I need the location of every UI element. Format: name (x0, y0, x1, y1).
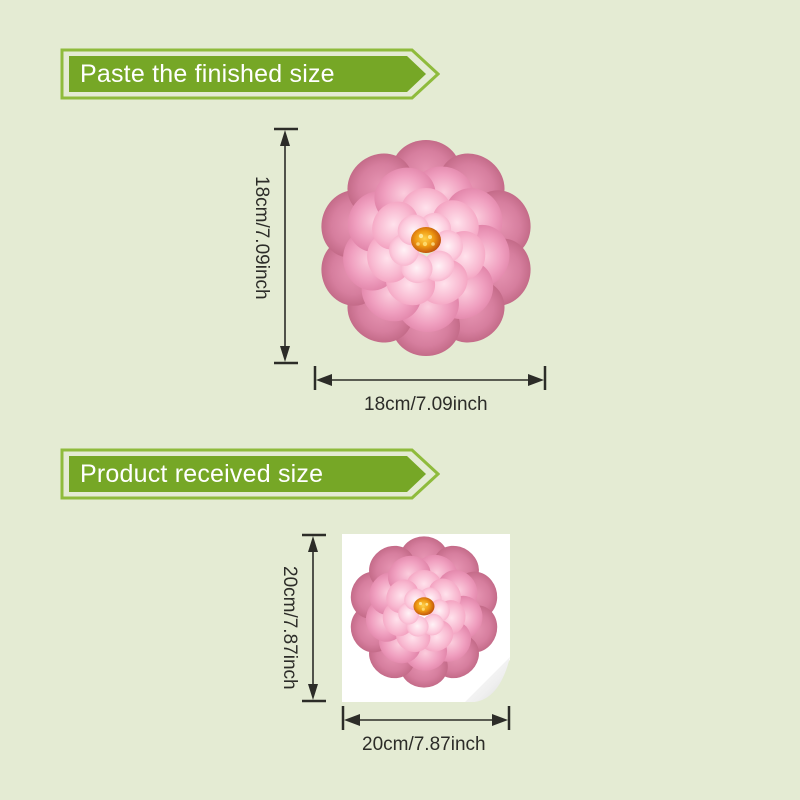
dimension-arrow-vertical (300, 532, 326, 704)
dimension-line-horizontal-finished (312, 366, 548, 392)
dimension-line-vertical-received (300, 532, 326, 704)
dimension-arrow-horizontal (312, 366, 548, 392)
dimension-line-vertical-finished (272, 126, 298, 366)
banner-label: Product received size (80, 448, 323, 500)
flower-image-finished-size (308, 128, 544, 364)
camellia-flower-graphic (308, 128, 544, 364)
dimension-line-horizontal-received (340, 706, 512, 732)
dimension-label-height-received: 20cm/7.87inch (278, 566, 300, 690)
banner-paste-finished-size: Paste the finished size (60, 48, 440, 100)
dimension-label-width-received: 20cm/7.87inch (362, 734, 486, 756)
sticker-sheet-image-received-size (342, 534, 510, 702)
infographic-canvas: Paste the finished size (0, 0, 800, 800)
dimension-label-width-finished: 18cm/7.09inch (364, 394, 488, 416)
banner-label: Paste the finished size (80, 48, 335, 100)
sticker-flower-center-stamen (414, 597, 435, 615)
dimension-arrow-vertical (272, 126, 298, 366)
dimension-arrow-horizontal (340, 706, 512, 732)
banner-product-received-size: Product received size (60, 448, 440, 500)
flower-center-stamen (411, 227, 441, 253)
white-sticker-sheet-with-curled-corner (342, 534, 510, 702)
dimension-label-height-finished: 18cm/7.09inch (250, 176, 272, 300)
